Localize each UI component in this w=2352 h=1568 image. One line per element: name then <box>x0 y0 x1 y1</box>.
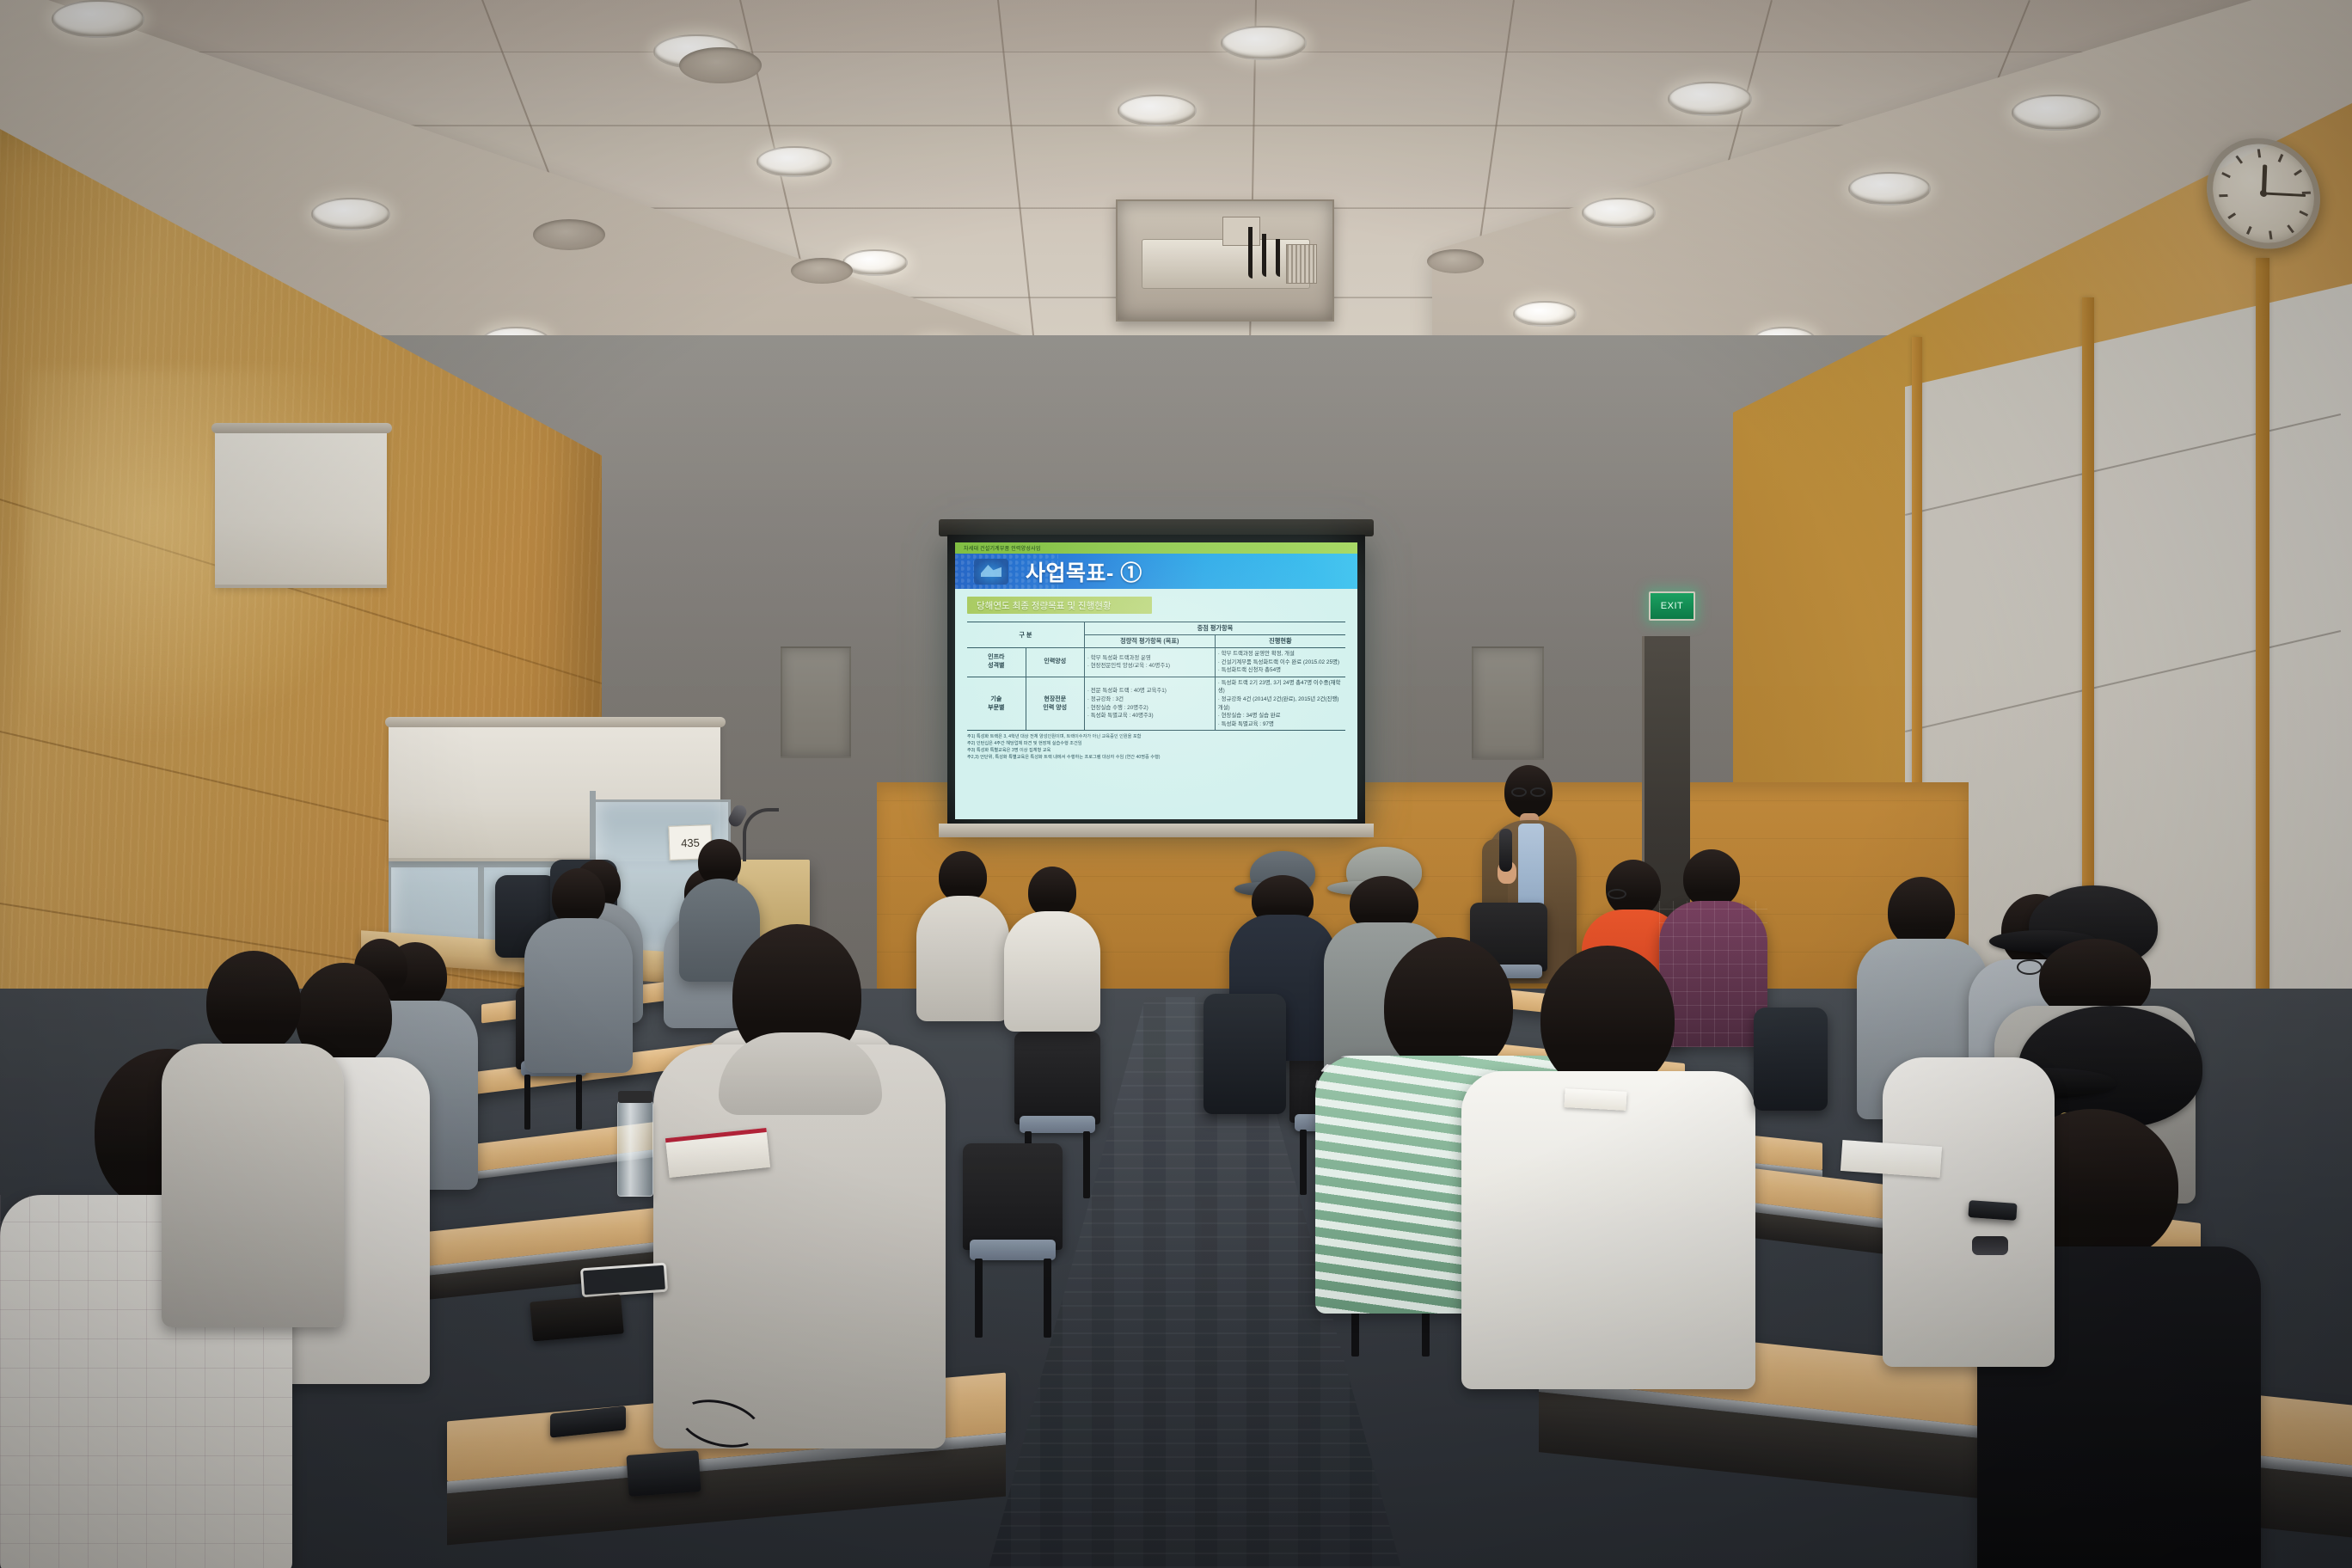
audience-person <box>653 924 946 1457</box>
backpack <box>1754 1008 1828 1111</box>
remote-control[interactable] <box>1968 1200 2017 1221</box>
exit-sign: EXIT <box>1649 591 1695 621</box>
table-header-group: 중점 평가항목 <box>1084 622 1345 635</box>
target-item: 학부 특성화 트랙과정 운영 <box>1087 654 1212 663</box>
chair[interactable] <box>963 1143 1063 1250</box>
exit-sign-label: EXIT <box>1661 601 1683 611</box>
window-blind[interactable] <box>215 428 387 588</box>
window-blind-roll[interactable] <box>211 423 392 433</box>
clock-minute-hand <box>2263 193 2306 197</box>
projector-cable <box>1248 227 1253 279</box>
ceiling-downlight <box>1582 198 1656 228</box>
wall-wood-strip <box>2256 258 2269 1057</box>
target-item: 정규강좌 : 3건 <box>1087 695 1212 704</box>
water-bottle <box>617 1100 653 1197</box>
person-torso <box>1461 1071 1755 1389</box>
acoustic-panel <box>1472 646 1544 760</box>
hood <box>719 1032 882 1115</box>
footnote: 주3) 특성화 특별교육은 3명 이상 집체형 교육 <box>967 748 1345 755</box>
slide-subtitle-bar: 당해연도 최종 정량목표 및 진행현황 <box>967 597 1152 614</box>
ceiling-speaker-icon <box>1427 249 1484 273</box>
footnote: 주2) 인턴십은 4주간 해당업체 파견 및 현장체 실습수행 조건임 <box>967 741 1345 748</box>
person-head <box>1683 849 1740 908</box>
progress-item: 특성화 특별교육 : 97명 <box>1218 720 1343 729</box>
projector-vent <box>1286 244 1317 284</box>
ceiling-downlight <box>311 198 390 230</box>
progress-item: 학부 트랙과정 운영안 확정, 개설 <box>1218 650 1343 658</box>
slide-banner: 차세대 건설기계부품 인력양성사업 <box>955 542 1357 554</box>
person-torso <box>524 918 633 1073</box>
audio-device[interactable] <box>626 1450 701 1497</box>
ceiling-downlight <box>2012 95 2101 131</box>
window-blind-roll[interactable] <box>385 717 726 727</box>
paper-sheet <box>1564 1088 1626 1111</box>
projector-cable <box>1276 239 1280 277</box>
ceiling-speaker-icon <box>791 258 853 284</box>
clock-hub <box>2259 190 2267 197</box>
ceiling-downlight <box>1221 26 1307 60</box>
screen-bottom-bar <box>939 824 1374 837</box>
table-header-col-0: 정량적 평가항목 (목표) <box>1084 635 1215 648</box>
person-head <box>1888 877 1955 947</box>
target-item: 현장실습 수행 : 20명주2) <box>1087 704 1212 713</box>
audience-person <box>1004 867 1100 1013</box>
person-head <box>1540 946 1675 1092</box>
projector-body <box>1142 239 1310 289</box>
projection-screen: 차세대 건설기계부품 인력양성사업 사업목표- ① 당해연도 최종 정량목표 및… <box>947 535 1365 827</box>
person-head <box>1028 867 1076 918</box>
progress-item: 정규강좌 4건 (2014년 2건(완료), 2015년 2건(진행) 개설) <box>1218 695 1343 712</box>
progress-item: 특성화 트랙 2기 23명, 3기 24명 총47명 이수중(재학생) <box>1218 679 1343 695</box>
screen-casing <box>939 519 1374 536</box>
presentation-slide: 차세대 건설기계부품 인력양성사업 사업목표- ① 당해연도 최종 정량목표 및… <box>955 542 1357 819</box>
progress-item: 특성화트랙 신청자 총54명 <box>1218 666 1343 675</box>
table-header-col-1: 진행현황 <box>1215 635 1345 648</box>
acoustic-panel <box>781 646 851 758</box>
wristwatch <box>1972 1236 2008 1255</box>
ceiling-speaker-icon <box>679 47 762 83</box>
smartphone[interactable] <box>580 1263 668 1298</box>
target-item: 현장전문인력 양성/교육 : 40명주1) <box>1087 662 1212 671</box>
person-head <box>939 851 987 903</box>
person-head <box>206 951 301 1054</box>
ceiling-downlight <box>756 146 832 177</box>
ceiling-downlight <box>1668 82 1752 116</box>
table-header-left: 구 분 <box>967 622 1084 648</box>
person-head <box>1606 860 1661 916</box>
person-torso <box>1004 911 1100 1032</box>
slide-title-band: 사업목표- ① <box>955 554 1357 589</box>
projector-housing <box>1116 199 1334 322</box>
glasses-icon <box>2017 959 2043 975</box>
projector-cable <box>1262 234 1266 277</box>
backpack <box>1204 994 1286 1114</box>
projector-mount <box>1222 217 1260 246</box>
person-torso <box>162 1044 344 1327</box>
audience-person <box>524 868 633 1057</box>
slide-title: 사업목표- ① <box>1026 556 1142 587</box>
phone-screen <box>583 1265 665 1295</box>
target-item: 전문 특성화 트랙 : 40명 교육주1) <box>1087 687 1212 695</box>
audience-person <box>162 951 342 1312</box>
target-item: 특성화 특별교육 : 40명주3) <box>1087 712 1212 720</box>
excavator-emblem-icon <box>974 559 1008 585</box>
slide-footnotes: 주1) 특성화 트랙은 3, 4학년 대상 전체 양성인원이며, 트랙이수자가 … <box>967 734 1345 761</box>
glasses-icon <box>1608 889 1626 899</box>
slide-table: 구 분 중점 평가항목 정량적 평가항목 (목표) 진행현황 인프라성격별 인력… <box>967 622 1345 731</box>
handheld-microphone-icon <box>1499 829 1512 872</box>
slide-subtitle: 당해연도 최종 정량목표 및 진행현황 <box>967 599 1112 612</box>
progress-item: 건설기계부품 특성화트랙 이수 완료 (2015.02 25명) <box>1218 658 1343 667</box>
chair[interactable] <box>1014 1032 1100 1124</box>
glasses-icon <box>1530 787 1546 797</box>
ceiling-downlight <box>52 0 144 38</box>
seminar-room-photo: EXIT 435 <box>0 0 2352 1568</box>
glasses-icon <box>1511 787 1527 797</box>
table-row: 기술부문별 현장전문인력 양성 전문 특성화 트랙 : 40명 교육주1) 정규… <box>967 677 1345 731</box>
wallet <box>530 1294 624 1341</box>
ceiling-speaker-icon <box>533 219 605 250</box>
slide-banner-text: 차세대 건설기계부품 인력양성사업 <box>955 544 1041 552</box>
audience-person <box>1461 946 1754 1375</box>
ceiling-downlight <box>1118 95 1197 126</box>
footnote: 주2,3) 언단위, 특성화 특별교육은 특성화 트랙 내에서 수행하는 프로그… <box>967 755 1345 762</box>
ceiling-downlight <box>1848 172 1931 205</box>
progress-item: 현장실습 : 34명 실습 완료 <box>1218 712 1343 720</box>
ceiling-downlight <box>1513 301 1577 327</box>
table-row: 인프라성격별 인력양성 학부 특성화 트랙과정 운영 현장전문인력 양성/교육 … <box>967 648 1345 677</box>
